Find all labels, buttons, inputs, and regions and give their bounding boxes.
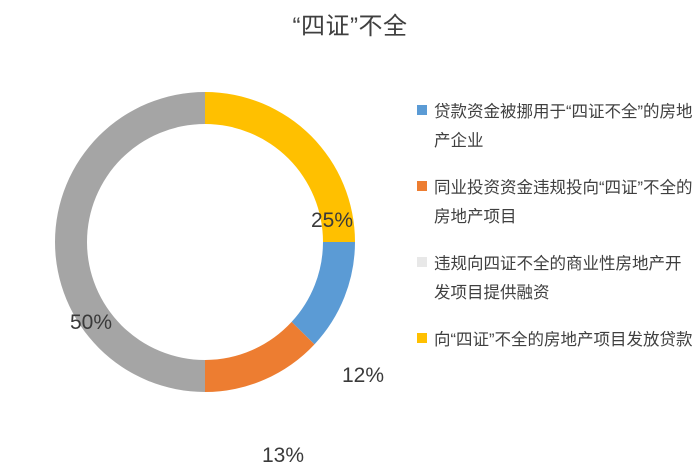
data-label-blue: 12%: [342, 365, 384, 386]
legend-label-3: 向“四证”不全的房地产项目发放贷款: [434, 326, 693, 355]
legend-swatch-yellow-icon: [417, 333, 427, 343]
data-label-gray: 50%: [70, 312, 112, 333]
donut-slice-gray[interactable]: [55, 92, 205, 392]
data-label-orange: 13%: [262, 445, 304, 466]
legend-label-0: 贷款资金被挪用于“四证不全”的房地产企业: [434, 98, 693, 156]
donut-svg: [30, 78, 385, 418]
legend-swatch-blue-icon: [417, 105, 427, 115]
legend-swatch-gray-icon: [417, 257, 427, 267]
legend-label-2: 违规向四证不全的商业性房地产开发项目提供融资: [434, 250, 693, 308]
legend-item-3[interactable]: 向“四证”不全的房地产项目发放贷款: [417, 326, 693, 355]
donut-slice-blue[interactable]: [292, 242, 355, 344]
donut-slice-orange[interactable]: [205, 322, 314, 392]
donut-chart-figure: “四证”不全 25% 12% 13% 50% 贷款资金被挪用于“四证不全”的房地…: [0, 0, 700, 432]
chart-title: “四证”不全: [0, 10, 700, 44]
legend-item-1[interactable]: 同业投资资金违规投向“四证”不全的房地产项目: [417, 174, 693, 232]
donut-plot-area: 25% 12% 13% 50%: [30, 78, 385, 418]
chart-legend: 贷款资金被挪用于“四证不全”的房地产企业 同业投资资金违规投向“四证”不全的房地…: [417, 98, 693, 373]
legend-label-1: 同业投资资金违规投向“四证”不全的房地产项目: [434, 174, 693, 232]
data-label-yellow: 25%: [311, 210, 353, 231]
legend-item-0[interactable]: 贷款资金被挪用于“四证不全”的房地产企业: [417, 98, 693, 156]
legend-item-2[interactable]: 违规向四证不全的商业性房地产开发项目提供融资: [417, 250, 693, 308]
legend-swatch-orange-icon: [417, 181, 427, 191]
